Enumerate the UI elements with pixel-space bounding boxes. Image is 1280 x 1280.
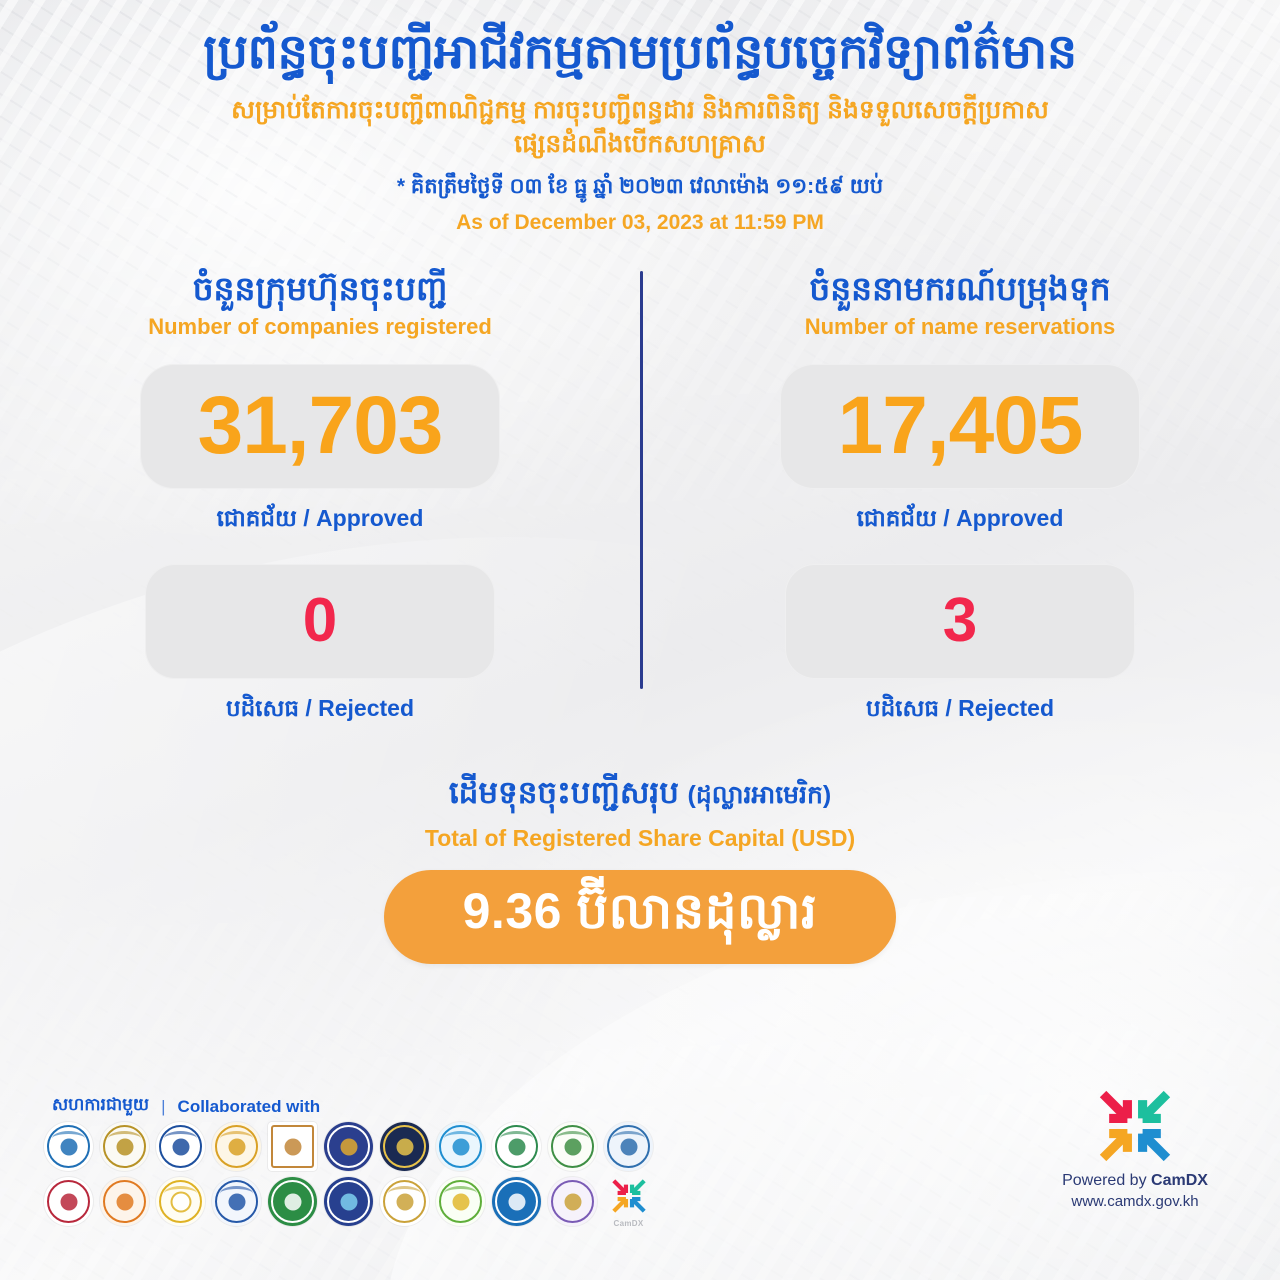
partner-logo-17	[324, 1177, 373, 1226]
capital-heading-khmer-paren: (ដុល្លារអាមេរិក)	[688, 781, 832, 809]
companies-rejected-card: 0	[145, 564, 495, 679]
partner-logo-3	[156, 1122, 205, 1171]
partner-logo-15	[212, 1177, 261, 1226]
subtitle-khmer: សម្រាប់តែការចុះបញ្ជីពាណិជ្ជកម្ម ការចុះបញ…	[0, 94, 1280, 162]
collaborated-with: សហការជាមួយ | Collaborated with	[52, 1094, 320, 1119]
collab-separator: |	[161, 1097, 165, 1117]
partner-logos: CamDX	[44, 1122, 654, 1232]
partner-logo-16	[268, 1177, 317, 1226]
powered-by-text: Powered by CamDX	[1040, 1172, 1230, 1190]
camdx-logo-icon	[609, 1177, 649, 1215]
companies-rejected-label: បដិសេធ / Rejected	[226, 695, 414, 728]
stat-column-name-reservations: ចំនួននាមករណ៍បម្រុងទុក Number of name res…	[640, 271, 1280, 727]
partner-logo-7	[380, 1122, 429, 1171]
capital-heading-khmer: ដើមទុនចុះបញ្ជីសរុប (ដុល្លារអាមេរិក)	[0, 774, 1280, 819]
page-title: ប្រព័ន្ធចុះបញ្ជីអាជីវកម្មតាមប្រព័ន្ធបច្ច…	[0, 26, 1280, 80]
partner-logo-18	[380, 1177, 429, 1226]
column-divider	[640, 271, 643, 689]
reservations-approved-card: 17,405	[780, 364, 1140, 489]
reservations-rejected-label: បដិសេធ / Rejected	[866, 695, 1054, 728]
reservations-rejected-value: 3	[943, 590, 977, 652]
partner-logo-9	[492, 1122, 541, 1171]
companies-heading-khmer: ចំនួនក្រុមហ៊ុនចុះបញ្ជី	[193, 271, 448, 307]
reservations-heading-english: Number of name reservations	[805, 314, 1116, 340]
footer: សហការជាមួយ | Collaborated with	[0, 1080, 1280, 1280]
companies-approved-value: 31,703	[198, 385, 443, 467]
partner-logo-8	[436, 1122, 485, 1171]
camdx-footer-label: CamDX	[604, 1219, 653, 1228]
partner-logo-10	[548, 1122, 597, 1171]
companies-approved-card: 31,703	[140, 364, 500, 489]
partner-logo-12	[44, 1177, 93, 1226]
reservations-approved-label: ជោគជ័យ / Approved	[857, 505, 1064, 538]
asof-english: As of December 03, 2023 at 11:59 PM	[0, 211, 1280, 235]
subtitle-khmer-line1: សម្រាប់តែការចុះបញ្ជីពាណិជ្ជកម្ម ការចុះបញ…	[95, 94, 1185, 128]
asof-khmer: * គិតត្រឹមថ្ងៃទី ០៣ ខែ ធ្នូ ឆ្នាំ ២០២៣ វ…	[0, 173, 1280, 204]
capital-heading-khmer-main: ដើមទុនចុះបញ្ជីសរុប	[449, 775, 679, 810]
partner-logo-2	[100, 1122, 149, 1171]
header: ប្រព័ន្ធចុះបញ្ជីអាជីវកម្មតាមប្រព័ន្ធបច្ច…	[0, 0, 1280, 235]
capital-heading-english: Total of Registered Share Capital (USD)	[0, 825, 1280, 852]
powered-by-camdx: Powered by CamDX www.camdx.gov.kh	[1040, 1088, 1230, 1210]
partner-logo-13	[100, 1177, 149, 1226]
infographic-canvas: ប្រព័ន្ធចុះបញ្ជីអាជីវកម្មតាមប្រព័ន្ធបច្ច…	[0, 0, 1280, 1280]
camdx-footer-logo: CamDX	[604, 1177, 653, 1226]
partner-logo-21	[548, 1177, 597, 1226]
companies-rejected-value: 0	[303, 590, 337, 652]
powered-by-prefix: Powered by	[1062, 1172, 1151, 1189]
companies-heading-english: Number of companies registered	[148, 314, 492, 340]
partner-logo-row-2: CamDX	[44, 1177, 654, 1226]
partner-logo-14	[156, 1177, 205, 1226]
partner-logo-20	[492, 1177, 541, 1226]
camdx-website: www.camdx.gov.kh	[1040, 1193, 1230, 1210]
capital-value-pill: 9.36 ប៊ីលានដុល្លារ	[384, 870, 896, 964]
partner-logo-4	[212, 1122, 261, 1171]
capital-value: 9.36 ប៊ីលានដុល្លារ	[463, 880, 818, 953]
share-capital-section: ដើមទុនចុះបញ្ជីសរុប (ដុល្លារអាមេរិក) Tota…	[0, 774, 1280, 964]
partner-logo-row-1	[44, 1122, 654, 1171]
reservations-heading-khmer: ចំនួននាមករណ៍បម្រុងទុក	[809, 271, 1110, 307]
collab-label-english: Collaborated with	[178, 1097, 321, 1117]
reservations-rejected-card: 3	[785, 564, 1135, 679]
partner-logo-6	[324, 1122, 373, 1171]
collab-label-khmer: សហការជាមួយ	[52, 1094, 149, 1119]
stat-column-companies: ចំនួនក្រុមហ៊ុនចុះបញ្ជី Number of compani…	[0, 271, 640, 727]
subtitle-khmer-line2: ផ្សេនដំណឹងបើកសហគ្រាស	[95, 128, 1185, 162]
partner-logo-1	[44, 1122, 93, 1171]
partner-logo-11	[604, 1122, 653, 1171]
stats-columns: ចំនួនក្រុមហ៊ុនចុះបញ្ជី Number of compani…	[0, 271, 1280, 727]
companies-approved-label: ជោគជ័យ / Approved	[217, 505, 424, 538]
camdx-brand-logo-icon	[1040, 1088, 1230, 1164]
reservations-approved-value: 17,405	[838, 385, 1083, 467]
camdx-brand-name: CamDX	[1151, 1172, 1208, 1189]
partner-logo-19	[436, 1177, 485, 1226]
partner-logo-5	[268, 1122, 317, 1171]
